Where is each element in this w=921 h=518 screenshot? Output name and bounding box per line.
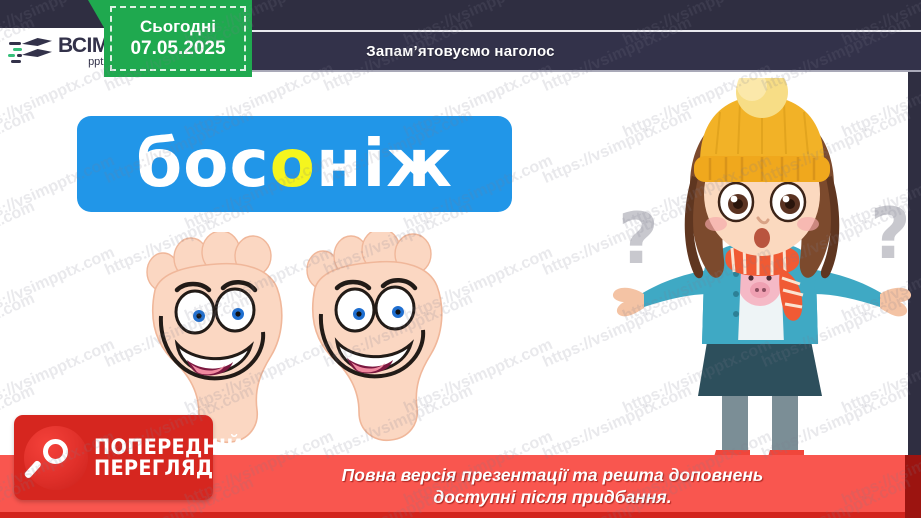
- page-title: Запам’ятовуємо наголос: [366, 43, 554, 60]
- preview-badge-text: ПОПЕРЕДНІЙ ПЕРЕГЛЯД: [94, 437, 256, 479]
- question-mark-right: ?: [870, 193, 911, 275]
- watermark-text: https://vsimpptx.com: [759, 0, 913, 4]
- word-accent-letter: о: [270, 125, 316, 202]
- brand-logo-text: ВСІМ pptx: [58, 35, 109, 68]
- watermark-text: https://vsimpptx.com: [0, 0, 38, 4]
- date-badge-value: 07.05.2025: [130, 37, 225, 61]
- bottom-banner-text: Повна версія презентації та решта доповн…: [342, 465, 764, 508]
- date-badge: Сьогодні 07.05.2025: [104, 0, 252, 77]
- watermark-text: https://vsimpptx.com: [321, 0, 475, 4]
- magnifier-icon: [24, 426, 88, 490]
- confused-girl-illustration: ? ?: [612, 78, 912, 490]
- brand-logo[interactable]: ВСІМ pptx: [0, 28, 112, 74]
- preview-badge-line2: ПЕРЕГЛЯД: [94, 458, 243, 479]
- brand-suffix: pptx: [58, 57, 109, 68]
- slide-root: Запам’ятовуємо наголос ВСІМ pptx Сьогодн…: [0, 0, 921, 518]
- word-part-before: бос: [136, 125, 270, 202]
- graduation-cap-icon: [8, 36, 54, 66]
- word-text: босоніж: [136, 131, 453, 197]
- question-mark-left: ?: [618, 198, 659, 280]
- preview-badge-line1: ПОПЕРЕДНІЙ: [94, 437, 243, 458]
- preview-badge[interactable]: ПОПЕРЕДНІЙ ПЕРЕГЛЯД: [14, 415, 213, 500]
- date-badge-label: Сьогодні: [140, 16, 216, 37]
- bottom-banner-line1: Повна версія презентації та решта доповн…: [342, 465, 764, 486]
- word-card: босоніж: [77, 116, 512, 212]
- brand-name: ВСІМ: [58, 35, 109, 56]
- banner-right-edge: [905, 455, 921, 518]
- watermark-text: https://vsimpptx.com: [540, 0, 694, 4]
- word-part-after: ніж: [316, 125, 453, 202]
- bottom-banner-line2: доступні після придбання.: [342, 487, 764, 508]
